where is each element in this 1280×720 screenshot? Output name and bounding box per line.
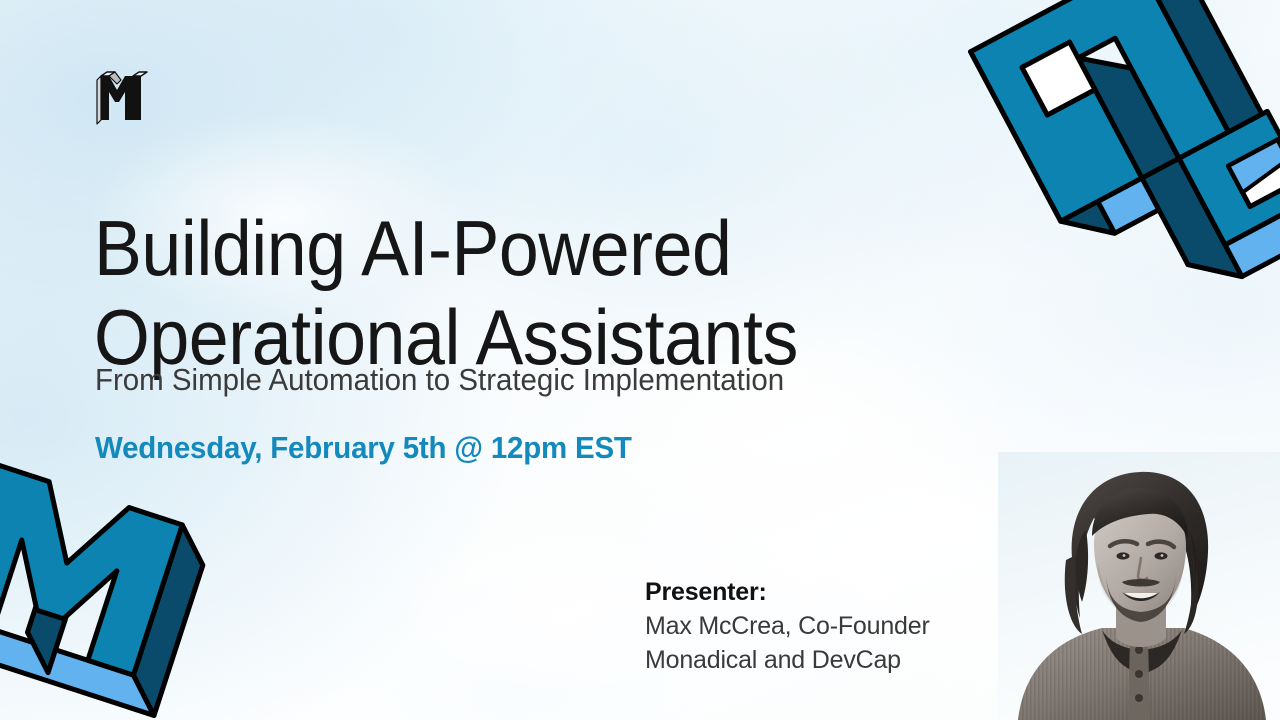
monadical-3d-m-logo-icon — [0, 456, 226, 720]
event-date-time: Wednesday, February 5th @ 12pm EST — [95, 430, 632, 466]
page-subtitle: From Simple Automation to Strategic Impl… — [95, 362, 784, 398]
monadical-m-monogram-icon — [95, 70, 153, 130]
webinar-title-slide: Building AI-Powered Operational Assistan… — [0, 0, 1280, 720]
presenter-name: Max McCrea, Co-Founder — [645, 609, 995, 643]
presenter-block: Presenter: Max McCrea, Co-Founder Monadi… — [645, 575, 995, 677]
page-title: Building AI-Powered Operational Assistan… — [94, 204, 885, 382]
presenter-label: Presenter: — [645, 575, 995, 609]
monadical-3d-m-logo-icon — [964, 0, 1280, 338]
presenter-headshot-photo — [998, 452, 1280, 720]
presenter-company: Monadical and DevCap — [645, 643, 995, 677]
